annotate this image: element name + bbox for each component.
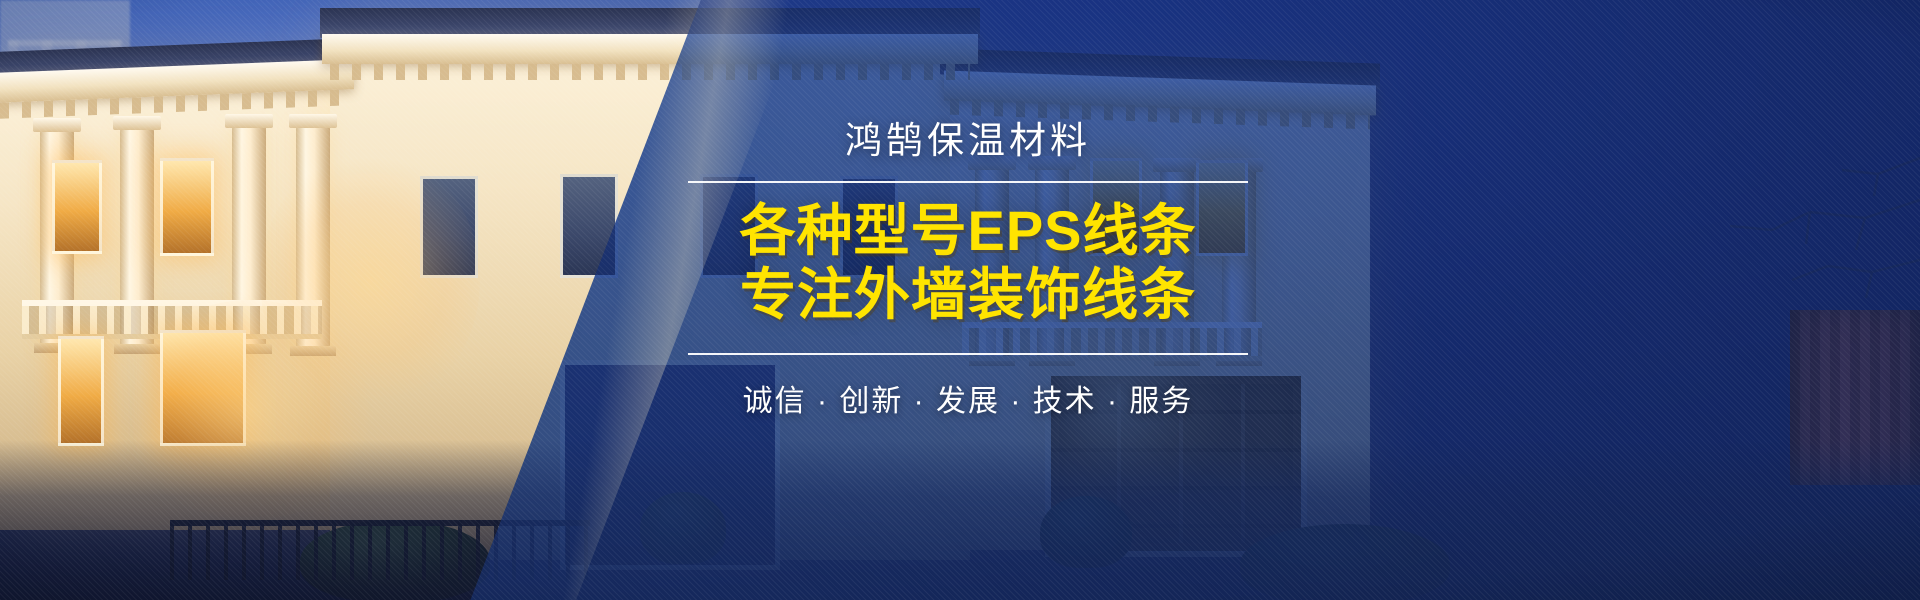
tagline: 诚信 · 创新 · 发展 · 技术 · 服务 xyxy=(688,376,1248,420)
headline-group: 各种型号EPS线条 专注外墙装饰线条 xyxy=(688,199,1248,327)
divider-top xyxy=(688,181,1248,183)
tagline-group: 诚信 · 创新 · 发展 · 技术 · 服务 xyxy=(688,353,1248,420)
brand-name: 鸿鹄保温材料 xyxy=(688,118,1248,164)
lit-window xyxy=(52,160,102,254)
lit-window xyxy=(160,158,214,256)
window xyxy=(420,176,478,278)
headline-line-2: 专注外墙装饰线条 xyxy=(688,263,1248,327)
headline-line-1: 各种型号EPS线条 xyxy=(688,199,1248,263)
lit-window xyxy=(58,336,104,446)
banner-text-block: 鸿鹄保温材料 各种型号EPS线条 专注外墙装饰线条 诚信 · 创新 · 发展 ·… xyxy=(688,118,1248,420)
divider-bottom xyxy=(688,353,1248,355)
hero-banner: 鸿鹄保温材料 各种型号EPS线条 专注外墙装饰线条 诚信 · 创新 · 发展 ·… xyxy=(0,0,1920,600)
lit-window xyxy=(160,330,246,446)
